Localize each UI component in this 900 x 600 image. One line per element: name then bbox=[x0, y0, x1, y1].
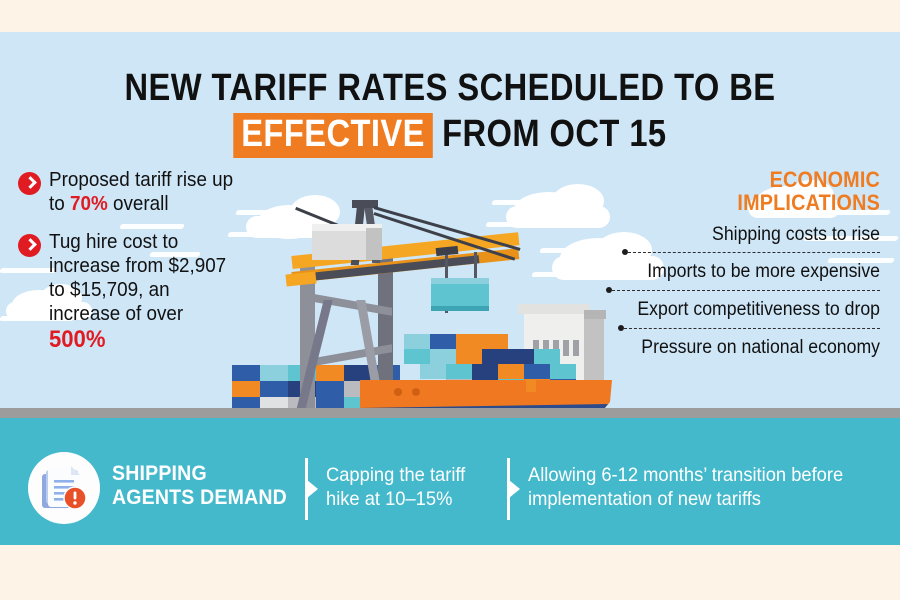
demand-title-line-1: SHIPPING bbox=[112, 462, 287, 486]
document-alert-icon bbox=[28, 452, 100, 524]
demand-item-2-line-2: implementation of new tariffs bbox=[528, 488, 874, 512]
implication-separator-2 bbox=[610, 286, 880, 296]
economic-implications-heading: ECONOMIC IMPLICATIONS bbox=[637, 168, 880, 215]
implication-separator-1 bbox=[610, 248, 880, 258]
implication-item-4: Pressure on national economy bbox=[629, 334, 880, 362]
bullet-1-part-3: overall bbox=[108, 192, 169, 215]
econ-heading-line-2: IMPLICATIONS bbox=[637, 191, 880, 214]
implication-separator-3 bbox=[610, 324, 880, 334]
title-line-2: EFFECTIVE FROM OCT 15 bbox=[63, 113, 837, 158]
title-line-2-rest: FROM OCT 15 bbox=[442, 113, 666, 155]
demand-item-1-line-1: Capping the tariff bbox=[326, 464, 486, 488]
demand-divider-1 bbox=[296, 458, 318, 520]
demand-title-line-2: AGENTS DEMAND bbox=[112, 486, 287, 510]
demand-item-1-line-2: hike at 10–15% bbox=[326, 488, 486, 512]
demand-item-2: Allowing 6-12 months’ transition before … bbox=[528, 464, 874, 512]
economic-implications-column: ECONOMIC IMPLICATIONS Shipping costs to … bbox=[610, 168, 880, 362]
water-strip bbox=[0, 418, 900, 432]
infographic-canvas: NEW TARIFF RATES SCHEDULED TO BE EFFECTI… bbox=[0, 0, 900, 600]
bullet-2-highlight: 500% bbox=[49, 326, 105, 353]
arrow-circle-icon bbox=[18, 172, 41, 195]
bullet-tug-hire-cost: Tug hire cost to increase from $2,907 to… bbox=[18, 230, 250, 354]
document-alert-svg bbox=[28, 452, 100, 524]
demand-item-2-line-1: Allowing 6-12 months’ transition before bbox=[528, 464, 874, 488]
demand-divider-2 bbox=[498, 458, 520, 520]
implication-item-1: Shipping costs to rise bbox=[629, 221, 880, 249]
left-points-column: Proposed tariff rise up to 70% overall T… bbox=[18, 168, 250, 368]
title-line-1: NEW TARIFF RATES SCHEDULED TO BE bbox=[63, 68, 837, 109]
implication-item-2: Imports to be more expensive bbox=[629, 258, 880, 286]
bullet-tug-hire-cost-text: Tug hire cost to increase from $2,907 to… bbox=[49, 230, 234, 354]
demand-item-1: Capping the tariff hike at 10–15% bbox=[326, 464, 486, 512]
bullet-1-highlight: 70% bbox=[70, 192, 108, 215]
title-highlight: EFFECTIVE bbox=[233, 113, 432, 158]
bullet-2-part-1: Tug hire cost to increase from $2,907 to… bbox=[49, 230, 226, 325]
implication-item-3: Export competitiveness to drop bbox=[629, 296, 880, 324]
bullet-tariff-rise: Proposed tariff rise up to 70% overall bbox=[18, 168, 250, 216]
bullet-tariff-rise-text: Proposed tariff rise up to 70% overall bbox=[49, 168, 234, 216]
arrow-circle-icon bbox=[18, 234, 41, 257]
page-title: NEW TARIFF RATES SCHEDULED TO BE EFFECTI… bbox=[63, 68, 837, 158]
econ-heading-line-1: ECONOMIC bbox=[637, 168, 880, 191]
shipping-agents-demand-title: SHIPPING AGENTS DEMAND bbox=[112, 462, 287, 509]
